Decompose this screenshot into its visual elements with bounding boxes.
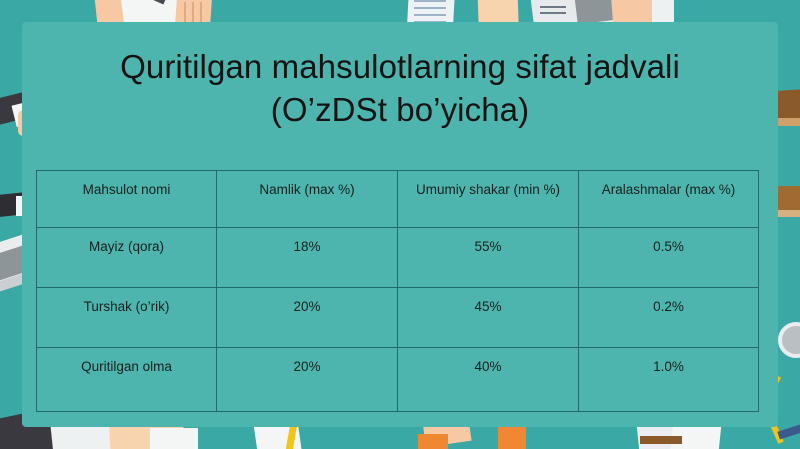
pen-icon <box>129 0 166 5</box>
cell-impurities: 1.0% <box>579 348 759 412</box>
paper-fan-3-icon <box>150 428 198 449</box>
column-header-impurities: Aralashmalar (max %) <box>579 171 759 228</box>
title-line-1: Quritilgan mahsulotlarning sifat jadvali <box>40 46 760 89</box>
cell-impurities: 0.2% <box>579 288 759 348</box>
cell-sugar: 40% <box>398 348 579 412</box>
page-title: Quritilgan mahsulotlarning sifat jadvali… <box>40 46 760 132</box>
cell-product: Mayiz (qora) <box>37 228 217 288</box>
clock-icon <box>778 322 800 358</box>
table-header-row: Mahsulot nomi Namlik (max %) Umumiy shak… <box>37 171 759 228</box>
cell-product: Quritilgan olma <box>37 348 217 412</box>
column-header-sugar: Umumiy shakar (min %) <box>398 171 579 228</box>
table-row: Mayiz (qora) 18% 55% 0.5% <box>37 228 759 288</box>
cell-impurities: 0.5% <box>579 228 759 288</box>
quality-standards-table: Mahsulot nomi Namlik (max %) Umumiy shak… <box>36 170 759 412</box>
cell-product: Turshak (o’rik) <box>37 288 217 348</box>
column-header-moisture: Namlik (max %) <box>217 171 398 228</box>
device-screen-icon <box>574 0 617 24</box>
cell-moisture: 20% <box>217 288 398 348</box>
table-row: Turshak (o’rik) 20% 45% 0.2% <box>37 288 759 348</box>
table-body: Mayiz (qora) 18% 55% 0.5% Turshak (o’rik… <box>37 228 759 412</box>
cell-sugar: 55% <box>398 228 579 288</box>
ruler-icon <box>777 424 800 439</box>
table-header: Mahsulot nomi Namlik (max %) Umumiy shak… <box>37 171 759 228</box>
cell-moisture: 18% <box>217 228 398 288</box>
cell-sugar: 45% <box>398 288 579 348</box>
table-row: Quritilgan olma 20% 40% 1.0% <box>37 348 759 412</box>
cuff-3-icon <box>418 434 448 449</box>
column-header-product: Mahsulot nomi <box>37 171 217 228</box>
title-line-2: (O’zDSt bo’yicha) <box>40 89 760 132</box>
book-band-icon <box>640 436 682 444</box>
cell-moisture: 20% <box>217 348 398 412</box>
slide-canvas: Quritilgan mahsulotlarning sifat jadvali… <box>0 0 800 449</box>
